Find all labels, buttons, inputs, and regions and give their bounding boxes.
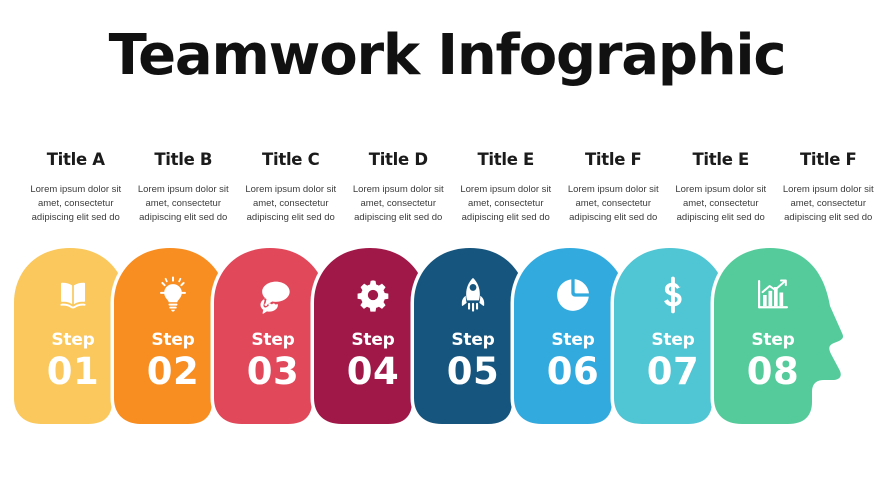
step-heads-group: Step01Step02Step03Step04Step05Step06Step… (12, 248, 894, 433)
column-body-text: Lorem ipsum dolor sit amet, consectetur … (349, 183, 447, 224)
head-silhouette (712, 248, 880, 426)
column-title: Title F (800, 150, 857, 169)
column-7: Title ELorem ipsum dolor sit amet, conse… (667, 150, 775, 240)
column-body-text: Lorem ipsum dolor sit amet, consectetur … (27, 183, 125, 224)
column-body-text: Lorem ipsum dolor sit amet, consectetur … (457, 183, 555, 224)
column-3: Title CLorem ipsum dolor sit amet, conse… (237, 150, 345, 240)
column-8: Title FLorem ipsum dolor sit amet, conse… (775, 150, 883, 240)
column-title: Title C (262, 150, 319, 169)
step-head-08[interactable]: Step08 (712, 248, 880, 426)
column-2: Title BLorem ipsum dolor sit amet, conse… (130, 150, 238, 240)
column-title: Title F (585, 150, 642, 169)
page-title: Teamwork Infographic (0, 27, 894, 86)
column-6: Title FLorem ipsum dolor sit amet, conse… (560, 150, 668, 240)
column-body-text: Lorem ipsum dolor sit amet, consectetur … (242, 183, 340, 224)
column-title: Title E (692, 150, 749, 169)
column-1: Title ALorem ipsum dolor sit amet, conse… (22, 150, 130, 240)
column-body-text: Lorem ipsum dolor sit amet, consectetur … (564, 183, 662, 224)
column-title: Title A (47, 150, 105, 169)
column-body-text: Lorem ipsum dolor sit amet, consectetur … (134, 183, 232, 224)
column-body-text: Lorem ipsum dolor sit amet, consectetur … (672, 183, 770, 224)
column-title: Title D (369, 150, 428, 169)
column-5: Title ELorem ipsum dolor sit amet, conse… (452, 150, 560, 240)
column-title: Title E (477, 150, 534, 169)
column-body-text: Lorem ipsum dolor sit amet, consectetur … (779, 183, 877, 224)
column-4: Title DLorem ipsum dolor sit amet, conse… (345, 150, 453, 240)
column-text-group: Title ALorem ipsum dolor sit amet, conse… (22, 150, 882, 240)
infographic-page: Teamwork Infographic Title ALorem ipsum … (0, 0, 894, 500)
column-title: Title B (154, 150, 212, 169)
